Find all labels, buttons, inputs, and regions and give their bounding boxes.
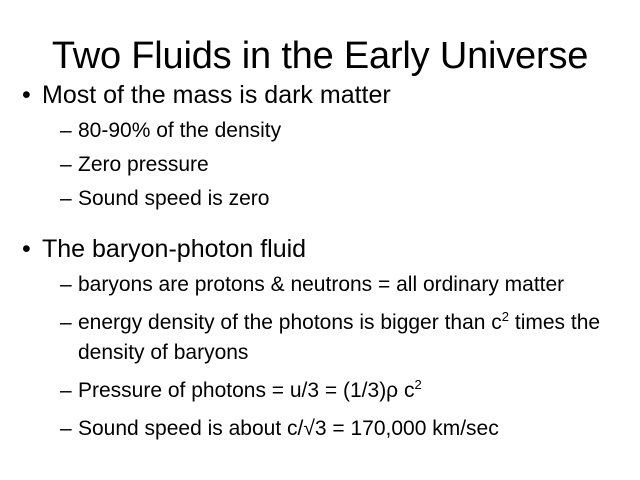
bullet-dash-icon: –: [60, 270, 72, 300]
bullet-dot-icon: •: [22, 232, 31, 266]
bullet-dash-icon: –: [60, 308, 72, 338]
bullet-level2-baryons-definition: – baryons are protons & neutrons = all o…: [0, 270, 640, 300]
bullet-dash-icon: –: [60, 414, 72, 444]
bullet-text-pre-superscript: Pressure of photons = u/3 = (1/3)ρ c: [78, 379, 414, 402]
bullet-dash-icon: –: [60, 116, 72, 146]
bullet-text: Sound speed is zero: [78, 187, 269, 210]
bullet-text-pre-superscript: energy density of the photons is bigger …: [78, 311, 502, 334]
bullet-text: Most of the mass is dark matter: [42, 81, 391, 109]
bullet-text: Zero pressure: [78, 153, 209, 176]
superscript-exponent: 2: [502, 309, 509, 324]
bullet-dash-icon: –: [60, 150, 72, 180]
bullet-level1-dark-matter: • Most of the mass is dark matter: [0, 78, 640, 112]
bullet-dash-icon: –: [60, 376, 72, 406]
bullet-text: 80-90% of the density: [78, 119, 281, 142]
superscript-exponent: 2: [414, 377, 421, 392]
slide-body: • Most of the mass is dark matter – 80-9…: [0, 72, 640, 445]
bullet-dash-icon: –: [60, 184, 72, 214]
bullet-level2-photon-energy-density: – energy density of the photons is bigge…: [0, 308, 640, 368]
bullet-dot-icon: •: [22, 78, 31, 112]
bullet-text: The baryon-photon fluid: [42, 235, 306, 263]
bullet-level1-baryon-photon-fluid: • The baryon-photon fluid: [0, 232, 640, 266]
bullet-level2-sound-speed-zero: – Sound speed is zero: [0, 184, 640, 214]
bullet-level2-density-percent: – 80-90% of the density: [0, 116, 640, 146]
bullet-level2-sound-speed-value: – Sound speed is about c/√3 = 170,000 km…: [0, 414, 640, 444]
bullet-text: Sound speed is about c/√3 = 170,000 km/s…: [78, 417, 499, 440]
bullet-text: baryons are protons & neutrons = all ord…: [78, 273, 564, 296]
bullet-level2-photon-pressure-equation: – Pressure of photons = u/3 = (1/3)ρ c2: [0, 376, 640, 406]
bullet-level2-zero-pressure: – Zero pressure: [0, 150, 640, 180]
slide-canvas: Two Fluids in the Early Universe • Most …: [0, 0, 640, 480]
